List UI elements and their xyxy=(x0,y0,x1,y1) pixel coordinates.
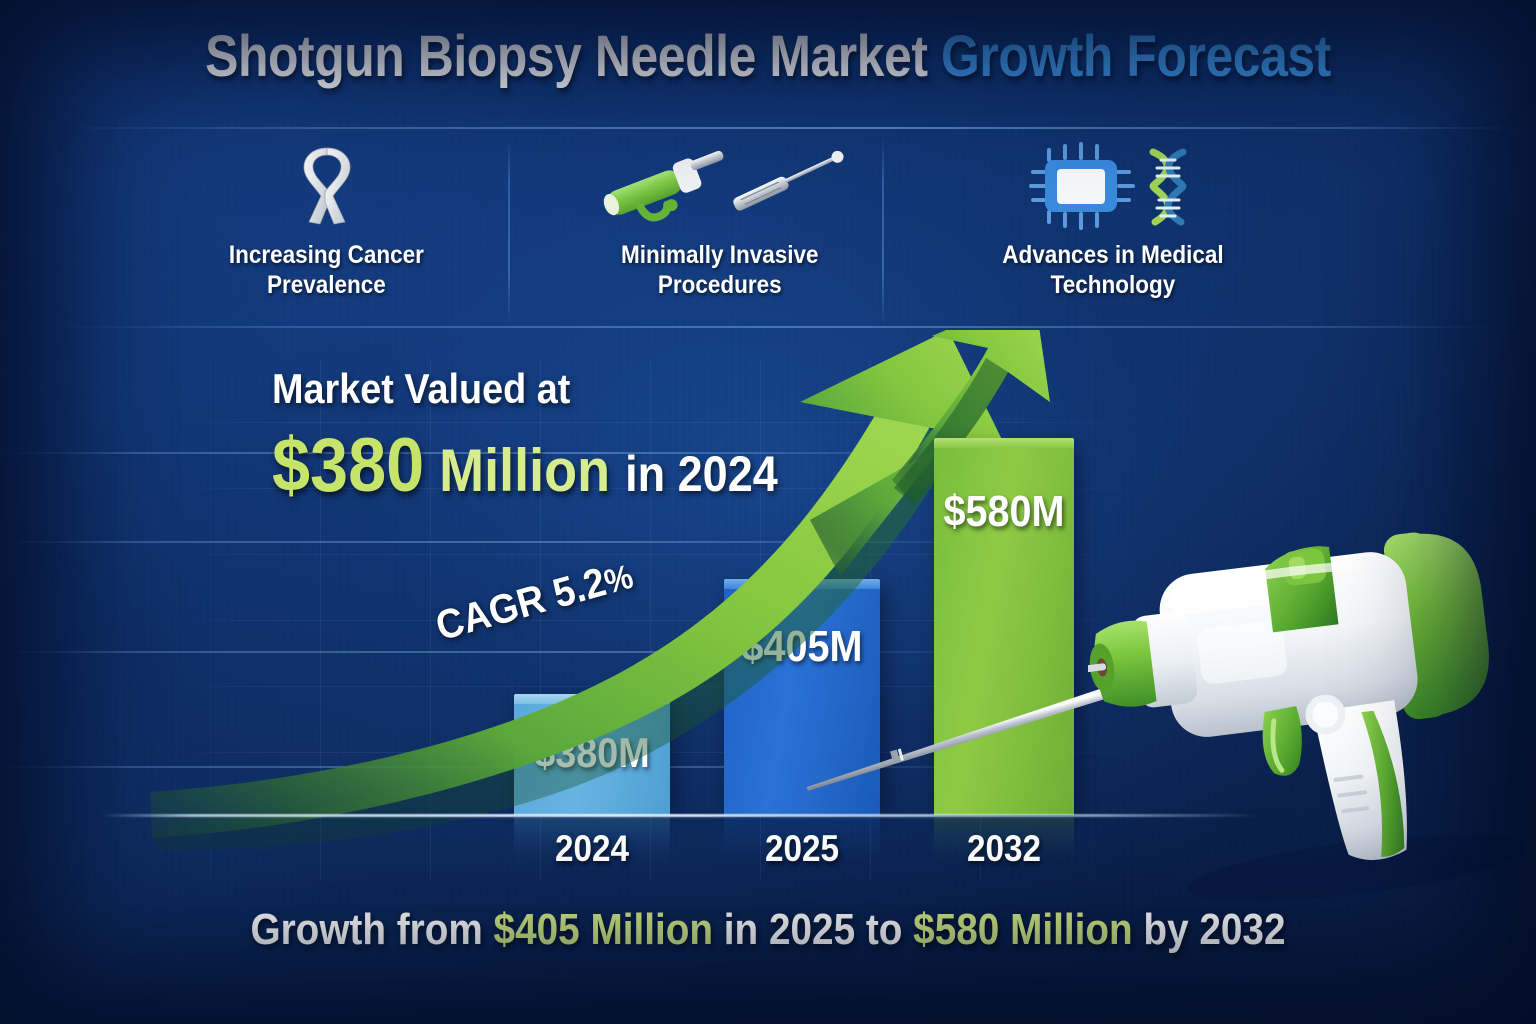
bar-2032: $580M xyxy=(934,447,1074,815)
bar-cap xyxy=(724,579,880,589)
feature-item-minimally-invasive: Minimally Invasive Procedures xyxy=(523,138,916,328)
bar-cap xyxy=(934,438,1074,448)
infographic-canvas: Shotgun Biopsy Needle Market Growth Fore… xyxy=(0,0,1536,1024)
caption-seg-1: Growth from xyxy=(250,905,493,954)
caption-seg-5: by 2032 xyxy=(1133,905,1286,954)
biopsy-gun-device xyxy=(1088,520,1536,920)
feature-label: Increasing Cancer Prevalence xyxy=(229,240,424,300)
bar-value-2024: $380M xyxy=(522,729,662,777)
feature-label: Minimally Invasive Procedures xyxy=(621,240,819,300)
bar-cap xyxy=(514,694,670,704)
gridline-major-2 xyxy=(0,541,1000,543)
caption-seg-4: $580 Million xyxy=(913,905,1132,954)
feature-label: Advances in Medical Technology xyxy=(1003,240,1224,300)
title-accent: Growth Forecast xyxy=(941,24,1331,89)
microchip-dna-icon xyxy=(1003,138,1223,234)
axis-label-2024: 2024 xyxy=(522,825,662,873)
bar-2025: $405M xyxy=(724,588,880,815)
market-value-year: in 2024 xyxy=(625,446,778,502)
market-value-headline: Market Valued at xyxy=(272,362,848,416)
feature-item-medical-technology: Advances in Medical Technology xyxy=(917,138,1310,328)
chart-baseline xyxy=(100,814,1260,817)
header-divider-top xyxy=(56,127,1536,129)
feature-item-cancer-prevalence: Increasing Cancer Prevalence xyxy=(130,138,523,328)
title-primary: Shotgun Biopsy Needle Market xyxy=(205,24,941,89)
market-value-unit: Million xyxy=(439,437,610,504)
feature-label-line1: Advances in Medical xyxy=(1003,240,1224,270)
axis-label-2025: 2025 xyxy=(732,825,872,873)
page-title: Shotgun Biopsy Needle Market Growth Fore… xyxy=(108,26,1429,88)
awareness-ribbon-icon xyxy=(279,138,375,234)
bar-value-2025: $405M xyxy=(732,622,872,672)
market-value-callout: Market Valued at $380 Million in 2024 xyxy=(272,362,912,514)
caption-seg-3: in 2025 to xyxy=(713,905,913,954)
biopsy-needle-device-icon xyxy=(590,138,850,234)
bar-value-2032: $580M xyxy=(941,487,1067,537)
bottom-caption: Growth from $405 Million in 2025 to $580… xyxy=(92,900,1444,960)
axis-label-2032: 2032 xyxy=(941,825,1067,873)
bar-2024: $380M xyxy=(514,703,670,815)
feature-label-line2: Prevalence xyxy=(229,270,424,300)
caption-seg-2: $405 Million xyxy=(494,905,713,954)
feature-label-line1: Increasing Cancer xyxy=(229,240,424,270)
market-value-amount-row: $380 Million in 2024 xyxy=(272,426,848,514)
feature-label-line1: Minimally Invasive xyxy=(621,240,819,270)
feature-label-line2: Technology xyxy=(1003,270,1224,300)
market-value-amount: $380 xyxy=(272,423,424,508)
feature-row: Increasing Cancer Prevalence xyxy=(130,138,1310,328)
feature-label-line2: Procedures xyxy=(621,270,819,300)
